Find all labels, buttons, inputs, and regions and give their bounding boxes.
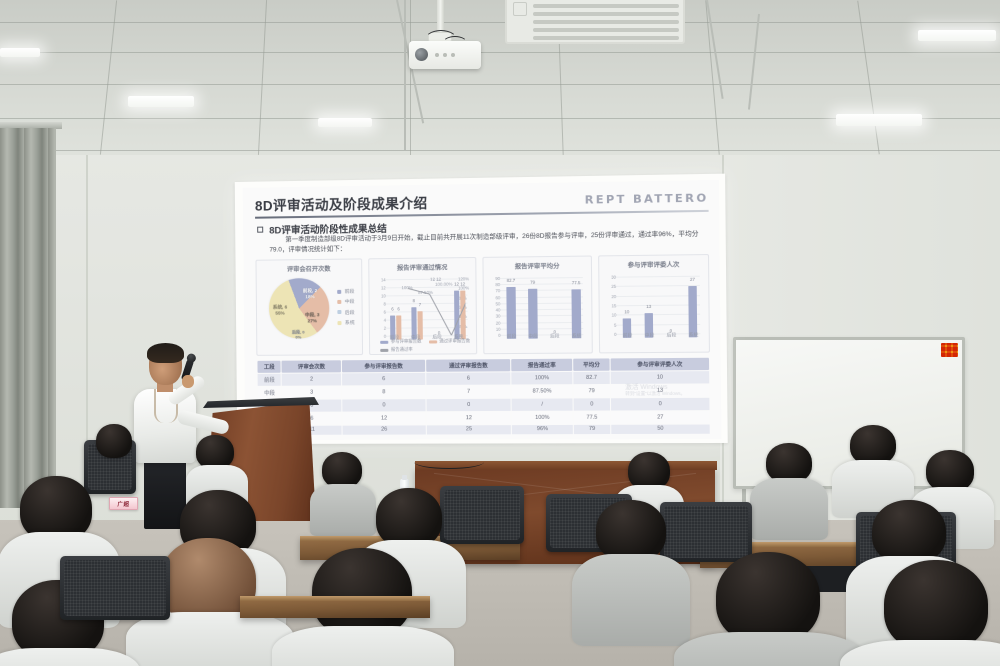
axis-tick-label: 0 [602,332,617,337]
axis-tick-label: 90 [486,276,500,281]
person-shirt [310,484,376,536]
axis-tick-label: 60 [486,295,500,300]
axis-tick-label: 20 [486,320,500,325]
axis-tick-label: 30 [601,275,616,280]
person-shirt [572,554,690,646]
table-cell: 3 [282,387,341,399]
table-cell: 77.5 [574,411,611,423]
slide-title: 8D评审活动及阶段成果介绍 [255,192,428,215]
pie-legend-item-3: 系统 [338,319,355,326]
table-cell: 6 [426,373,510,385]
nameplate-left: 广超 [109,497,138,510]
person-head [376,488,442,548]
table-cell: 0 [342,399,425,411]
table-header-cell: 通过评审报告数 [426,359,510,372]
axis-tick-label: 后段 [664,332,680,338]
axis-tick-label: 系统 [569,333,585,339]
axis-tick-label: 30 [486,314,500,319]
axis-tick-label: 前段 [504,334,520,340]
ceiling-light-4 [0,48,40,57]
combo-chart-line-series [386,272,466,335]
table-cell: 100% [512,372,573,384]
windows-watermark: 激活 Windows 转到"设置"以激活 Windows。 [625,382,685,398]
table-cell: 27 [611,411,709,423]
axis-tick-label: 4 [372,318,386,323]
avg-score-gridlines [484,271,591,272]
bar-value-label: 79 [525,279,541,284]
table-cell: 2 [282,374,341,386]
table-cell: 87.50% [512,385,573,397]
axis-tick-label: 80 [486,282,500,287]
ceiling [0,0,1000,155]
avg-score-chart-title: 报告评审平均分 [484,261,591,271]
table-header-cell: 平均分 [573,358,610,371]
pie-chart-title: 评审会召开次数 [257,263,362,273]
axis-tick-label: 10 [486,326,500,331]
pie-slice-label-2: 后段, 0 0% [287,329,309,339]
combo-legend-item-2: 报告通过率 [380,347,413,353]
judge-count-y-axis: 051015202530 [599,269,708,270]
bar [688,286,697,338]
presenter-hand [182,375,194,388]
axis-tick-label: 5 [602,322,617,327]
chair-mid-3[interactable] [660,502,752,562]
person-head [926,450,974,492]
gridline [616,304,700,305]
person-head [884,560,988,652]
avg-score-y-axis: 0102030405060708090 [484,271,591,272]
watermark-line-2: 转到"设置"以激活 Windows。 [625,391,685,397]
ceiling-light-2 [318,118,372,127]
magnet-grid-icon[interactable] [941,343,958,357]
axis-tick-label: 0 [486,333,500,338]
axis-tick-label: 20 [602,294,617,299]
person-head [850,425,896,465]
desk-cable [414,455,484,469]
ceiling-light-3 [836,114,922,126]
pie-chart: 前段, 2 18% 中段, 3 27% 后段, 0 0% 系统, 6 55% [269,278,330,339]
table-cell: 96% [512,424,573,434]
ceiling-hanger-rod-1 [404,0,406,150]
person-head [96,424,132,458]
axis-tick-label: 后段 [547,333,563,339]
bar [506,286,516,338]
axis-tick-label: 6 [372,310,386,315]
table-cell: 82.7 [573,372,610,384]
avg-score-x-axis: 前段中段后段系统 [484,271,591,272]
pie-slice-label-3: 系统, 6 55% [267,304,293,316]
chart-card-pie: 评审会召开次数 前段, 2 18% 中段, 3 27% 后段, 0 0% 系统,… [255,258,363,355]
table-header-cell: 参与评审报告数 [342,360,425,373]
table-cell: 8 [342,386,425,398]
person-head [312,548,412,638]
table-header-cell: 评审会次数 [282,360,341,373]
table-header-cell: 工段 [257,361,281,374]
person-head [322,452,362,488]
axis-tick-label: 12 [372,285,386,290]
judge-count-plot: 051015202530 1013027 前段中段后段系统 [599,269,709,352]
ceiling-light-1 [128,96,194,107]
axis-tick-label: 中段 [642,333,658,339]
avg-score-bars: 82.779077.5 [484,271,591,272]
axis-tick-label: 10 [372,293,386,298]
table-cell: 0 [573,398,610,410]
combo-chart-legend: 参与评审报告数 通过评审报告数 报告通过率 [380,338,477,353]
bar-value-label: 82.7 [503,277,518,282]
pie-legend-item-1: 中段 [338,298,355,305]
chart-card-pass-rate: 报告评审通过情况 02468101214 0%20%40%60%80%100%1… [368,257,477,355]
chart-card-judge-count: 参与评审评委人次 051015202530 1013027 前段中段后段系统 [598,254,710,353]
company-logo: REPT BATTERO [585,191,709,206]
combo-chart-title: 报告评审通过情况 [369,262,475,272]
pie-legend-item-0: 前段 [338,288,355,295]
person-head [196,435,234,469]
table-header-cell: 参与评审评委人次 [611,358,709,371]
air-conditioning-vent [505,0,685,44]
person-shirt [750,478,828,540]
axis-tick-label: 14 [371,277,385,282]
table-cell: 12 [342,412,425,424]
table-cell: 6 [342,373,425,385]
combo-legend-item-0: 参与评审报告数 [380,339,421,345]
table-row: 后段000/00 [258,398,710,412]
judge-count-chart-title: 参与评审评委人次 [599,259,708,270]
bar [528,289,538,339]
bar-value-label: 27 [685,276,700,281]
person-shirt [272,626,454,666]
combo-legend-item-1: 通过评审报告数 [429,338,471,344]
axis-tick-label: 15 [602,303,617,308]
bar [571,289,581,338]
table-cell: 0 [611,398,709,410]
person-shirt [674,632,864,666]
table-row: 11262596%7950 [258,424,710,435]
table-cell: 0 [427,399,511,411]
bar-value-label: 13 [641,304,656,309]
avg-score-plot: 0102030405060708090 82.779077.5 前段中段后段系统 [484,271,592,353]
person-head [716,552,820,644]
projector-cable-2 [442,36,468,52]
chair-mid-1[interactable] [440,486,524,544]
table-cell: 79 [574,424,611,434]
person-head [766,443,812,483]
judge-count-bars: 1013027 [599,269,708,270]
axis-tick-label: 70 [486,289,500,294]
table-cell: 50 [611,424,709,434]
judge-count-gridlines [599,269,708,270]
presenter-hair [147,343,184,363]
person-head [596,500,666,562]
person-head [872,500,946,564]
table-row: 系统61212100%77.527 [258,411,710,425]
bar-value-label: 77.5 [568,280,584,285]
audience-desk-front [240,596,430,618]
ceiling-hanger-rod-3 [748,14,760,110]
axis-tick-label: 前段 [620,333,636,339]
pie-legend-item-2: 后段 [338,309,355,316]
projector-lens-icon [415,48,428,61]
pie-chart-legend: 前段 中段 后段 系统 [338,288,355,327]
judge-count-x-axis: 前段中段后段系统 [599,269,708,270]
axis-tick-label: 10 [602,313,617,318]
table-cell: 12 [427,412,511,424]
conference-room-scene: 8D评审活动及阶段成果介绍 REPT BATTERO 8D评审活动阶段性成果总结… [0,0,1000,666]
table-cell: 26 [343,425,426,435]
pie-slice-label-1: 中段, 3 27% [299,312,325,324]
bullet-square-icon [257,227,263,233]
axis-tick-label: 40 [486,308,500,313]
pie-slice-label-0: 前段, 2 18% [297,288,323,300]
watermark-line-1: 激活 Windows [625,382,685,392]
axis-tick-label: 25 [602,284,617,289]
axis-tick-label: 系统 [686,332,702,338]
table-cell: 中段 [258,387,282,399]
chart-card-avg-score: 报告评审平均分 0102030405060708090 82.779077.5 … [482,255,592,354]
table-header-cell: 报告通过率 [511,359,572,372]
table-cell: 79 [573,385,610,397]
bar-value-label: 10 [619,310,634,315]
axis-tick-label: 8 [372,301,386,306]
table-cell: 100% [512,411,573,423]
axis-tick-label: 2 [372,326,386,331]
ceiling-light-5 [918,30,996,41]
person-shirt [126,612,294,666]
table-cell: / [512,398,573,410]
window-curtain[interactable] [0,128,56,508]
chair-front-left[interactable] [60,556,170,620]
table-cell: 25 [427,425,511,435]
table-cell: 7 [427,386,511,398]
gridline [616,295,700,296]
table-cell: 前段 [258,374,282,386]
axis-tick-label: 中段 [525,333,541,339]
axis-tick-label: 50 [486,301,500,306]
chart-card-row: 评审会召开次数 前段, 2 18% 中段, 3 27% 后段, 0 0% 系统,… [255,254,710,356]
